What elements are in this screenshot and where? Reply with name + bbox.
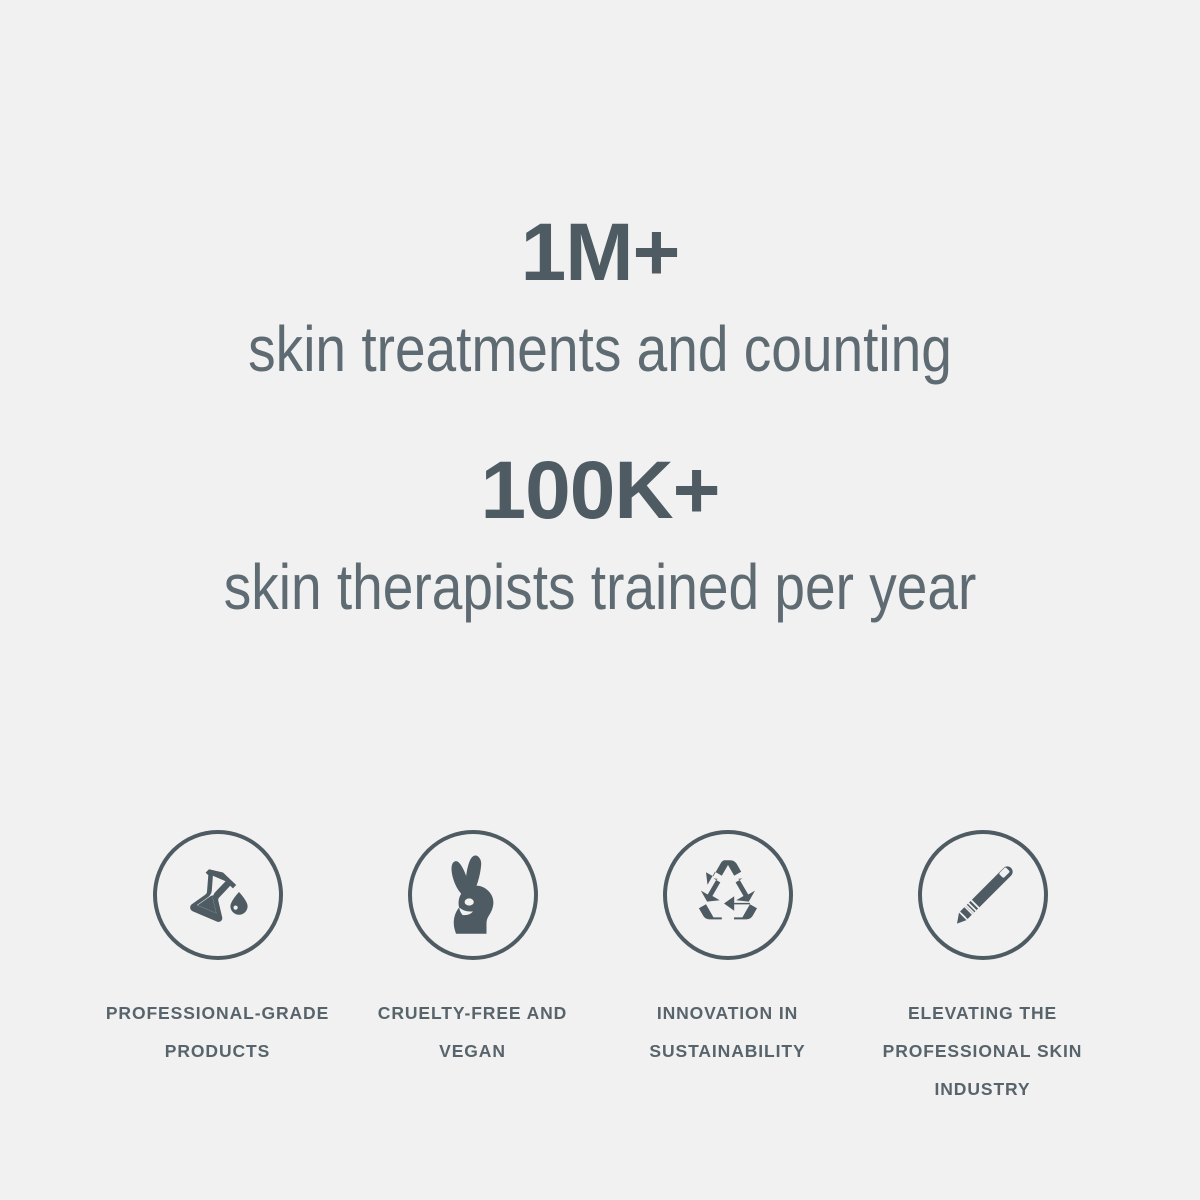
feature-elevating-professional-skin-industry: ELEVATING THE PROFESSIONAL SKIN INDUSTRY bbox=[855, 830, 1110, 1108]
flask-droplet-icon bbox=[179, 856, 257, 934]
stat-number-therapists: 100K+ bbox=[0, 444, 1200, 538]
stat-label-therapists: skin therapists trained per year bbox=[84, 550, 1116, 624]
badge-circle-rabbit bbox=[408, 830, 538, 960]
pen-icon bbox=[943, 855, 1023, 935]
badge-circle-recycle bbox=[663, 830, 793, 960]
stat-block-treatments: 1M+ skin treatments and counting bbox=[0, 206, 1200, 386]
feature-badges-row: PROFESSIONAL-GRADE PRODUCTS bbox=[0, 830, 1200, 1108]
stat-block-therapists: 100K+ skin therapists trained per year bbox=[0, 444, 1200, 624]
feature-professional-grade-products: PROFESSIONAL-GRADE PRODUCTS bbox=[90, 830, 345, 1070]
badge-circle-pen bbox=[918, 830, 1048, 960]
stat-label-treatments: skin treatments and counting bbox=[84, 312, 1116, 386]
feature-caption-cruelty-free-and-vegan: CRUELTY-FREE AND VEGAN bbox=[368, 994, 578, 1070]
badge-circle-flask bbox=[153, 830, 283, 960]
feature-cruelty-free-and-vegan: CRUELTY-FREE AND VEGAN bbox=[345, 830, 600, 1070]
rabbit-icon bbox=[431, 853, 515, 937]
brand-stats-panel: 1M+ skin treatments and counting 100K+ s… bbox=[0, 0, 1200, 1200]
feature-innovation-in-sustainability: INNOVATION IN SUSTAINABILITY bbox=[600, 830, 855, 1070]
feature-caption-elevating-professional-skin-industry: ELEVATING THE PROFESSIONAL SKIN INDUSTRY bbox=[865, 994, 1100, 1108]
stats-section: 1M+ skin treatments and counting 100K+ s… bbox=[0, 0, 1200, 790]
recycle-icon bbox=[691, 858, 765, 932]
feature-caption-innovation-in-sustainability: INNOVATION IN SUSTAINABILITY bbox=[615, 994, 840, 1070]
feature-caption-professional-grade-products: PROFESSIONAL-GRADE PRODUCTS bbox=[68, 994, 368, 1070]
stat-number-treatments: 1M+ bbox=[0, 206, 1200, 300]
